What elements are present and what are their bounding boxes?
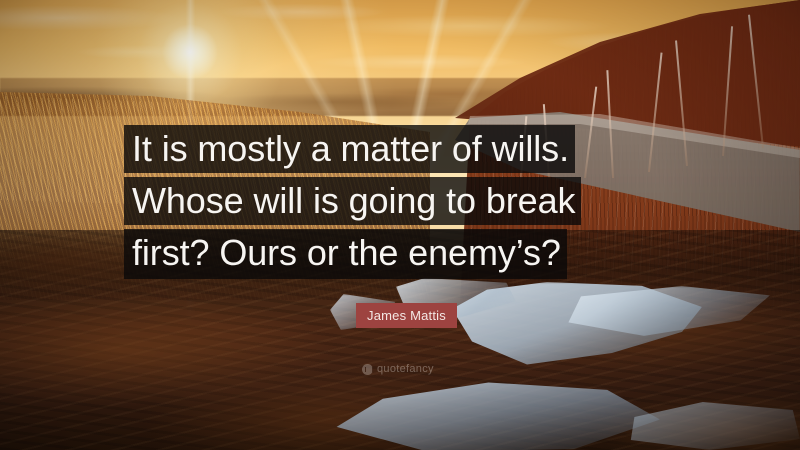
quote-line: Whose will is going to break [124,177,581,225]
watermark-label: quotefancy [377,364,434,375]
watermark: quotefancy [362,364,434,375]
quote-block: It is mostly a matter of wills. Whose wi… [124,125,684,279]
quote-line: first? Ours or the enemy’s? [124,229,567,279]
quote-card: It is mostly a matter of wills. Whose wi… [0,0,800,450]
quotefancy-logo-icon [362,364,373,375]
quote-line: It is mostly a matter of wills. [124,125,575,173]
author-banner: James Mattis [356,303,457,328]
